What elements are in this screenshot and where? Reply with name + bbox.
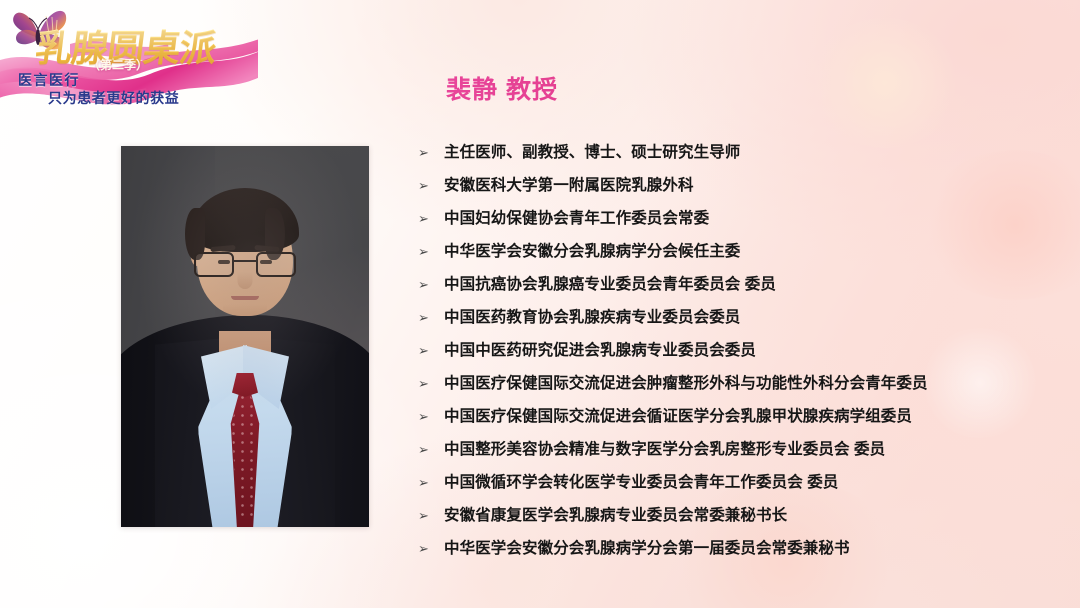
page-title: 裴静 教授	[446, 70, 1062, 106]
list-item: ➢安徽省康复医学会乳腺病专业委员会常委兼秘书长	[418, 503, 1062, 536]
credential-text: 中国妇幼保健协会青年工作委员会常委	[444, 206, 709, 228]
credential-text: 中华医学会安徽分会乳腺病学分会候任主委	[444, 239, 740, 261]
arrow-bullet-icon: ➢	[418, 477, 444, 490]
credentials-list: ➢主任医师、副教授、博士、硕士研究生导师 ➢安徽医科大学第一附属医院乳腺外科 ➢…	[418, 140, 1062, 569]
list-item: ➢中国医疗保健国际交流促进会循证医学分会乳腺甲状腺疾病学组委员	[418, 404, 1062, 437]
arrow-bullet-icon: ➢	[418, 378, 444, 391]
arrow-bullet-icon: ➢	[418, 312, 444, 325]
program-logo: 乳腺圆桌派 （第二季） 医言医行 只为患者更好的获益	[0, 0, 258, 120]
portrait-vignette	[121, 146, 369, 527]
list-item: ➢中国中医药研究促进会乳腺病专业委员会委员	[418, 338, 1062, 371]
arrow-bullet-icon: ➢	[418, 246, 444, 259]
credential-text: 中国微循环学会转化医学专业委员会青年工作委员会 委员	[444, 470, 838, 492]
list-item: ➢中国整形美容协会精准与数字医学分会乳房整形专业委员会 委员	[418, 437, 1062, 470]
credential-text: 中国整形美容协会精准与数字医学分会乳房整形专业委员会 委员	[444, 437, 885, 459]
credential-text: 中国医疗保健国际交流促进会肿瘤整形外科与功能性外科分会青年委员	[444, 371, 928, 393]
credential-text: 中国抗癌协会乳腺癌专业委员会青年委员会 委员	[444, 272, 776, 294]
logo-slogan-line-2: 只为患者更好的获益	[48, 88, 179, 108]
credential-text: 安徽医科大学第一附属医院乳腺外科	[444, 173, 694, 195]
list-item: ➢主任医师、副教授、博士、硕士研究生导师	[418, 140, 1062, 173]
logo-season-label: （第二季）	[88, 56, 148, 73]
list-item: ➢安徽医科大学第一附属医院乳腺外科	[418, 173, 1062, 206]
list-item: ➢中华医学会安徽分会乳腺病学分会第一届委员会常委兼秘书	[418, 536, 1062, 569]
arrow-bullet-icon: ➢	[418, 510, 444, 523]
credential-text: 主任医师、副教授、博士、硕士研究生导师	[444, 140, 740, 162]
list-item: ➢中华医学会安徽分会乳腺病学分会候任主委	[418, 239, 1062, 272]
slide-canvas: 乳腺圆桌派 （第二季） 医言医行 只为患者更好的获益	[0, 0, 1080, 608]
arrow-bullet-icon: ➢	[418, 180, 444, 193]
credential-text: 中国医药教育协会乳腺疾病专业委员会委员	[444, 305, 740, 327]
arrow-bullet-icon: ➢	[418, 444, 444, 457]
arrow-bullet-icon: ➢	[418, 345, 444, 358]
arrow-bullet-icon: ➢	[418, 411, 444, 424]
credential-text: 中国中医药研究促进会乳腺病专业委员会委员	[444, 338, 756, 360]
credential-text: 中国医疗保健国际交流促进会循证医学分会乳腺甲状腺疾病学组委员	[444, 404, 912, 426]
credential-text: 安徽省康复医学会乳腺病专业委员会常委兼秘书长	[444, 503, 787, 525]
arrow-bullet-icon: ➢	[418, 213, 444, 226]
list-item: ➢中国医疗保健国际交流促进会肿瘤整形外科与功能性外科分会青年委员	[418, 371, 1062, 404]
list-item: ➢中国妇幼保健协会青年工作委员会常委	[418, 206, 1062, 239]
arrow-bullet-icon: ➢	[418, 543, 444, 556]
speaker-portrait-photo	[121, 146, 369, 527]
list-item: ➢中国医药教育协会乳腺疾病专业委员会委员	[418, 305, 1062, 338]
list-item: ➢中国微循环学会转化医学专业委员会青年工作委员会 委员	[418, 470, 1062, 503]
speaker-info-panel: 裴静 教授 ➢主任医师、副教授、博士、硕士研究生导师 ➢安徽医科大学第一附属医院…	[418, 70, 1062, 569]
logo-slogan-line-1: 医言医行	[18, 70, 80, 90]
arrow-bullet-icon: ➢	[418, 147, 444, 160]
arrow-bullet-icon: ➢	[418, 279, 444, 292]
credential-text: 中华医学会安徽分会乳腺病学分会第一届委员会常委兼秘书	[444, 536, 850, 558]
list-item: ➢中国抗癌协会乳腺癌专业委员会青年委员会 委员	[418, 272, 1062, 305]
